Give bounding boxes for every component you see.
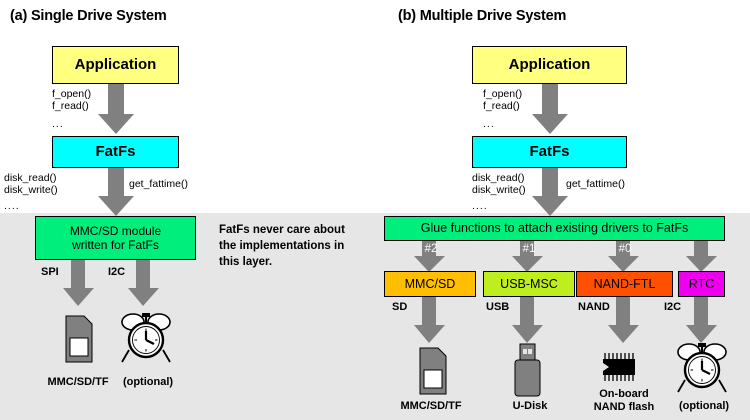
- panel-a-arrow-fatfs-to-module: [98, 168, 138, 218]
- panel-a-call-disk-read: disk_read(): [4, 172, 57, 185]
- panel-a-module-box[interactable]: MMC/SD module written for FatFs: [35, 216, 196, 260]
- panel-a-fatfs-box[interactable]: FatFs: [52, 136, 179, 168]
- sd-card-icon: [414, 348, 448, 396]
- panel-a-note: FatFs never care about the implementatio…: [219, 222, 369, 270]
- panel-a-call-f-read: f_read(): [52, 100, 89, 113]
- panel-b-title: (b) Multiple Drive System: [398, 8, 566, 24]
- alarm-clock-icon: [120, 310, 172, 366]
- panel-b-arrow-driver-to-device-1: [512, 297, 546, 345]
- panel-a-arrow-spi: [63, 260, 97, 308]
- panel-a-title: (a) Single Drive System: [10, 8, 167, 24]
- sd-card-icon: [60, 316, 94, 364]
- panel-b-arrow-fatfs-to-glue: [532, 168, 572, 218]
- panel-b-driver-box-usb-msc[interactable]: USB-MSC: [483, 271, 575, 297]
- panel-b-device-caption-2: On-board NAND flash: [574, 388, 674, 413]
- panel-b-call-get-fattime: get_fattime(): [566, 178, 625, 191]
- panel-a-call-get-fattime: get_fattime(): [129, 178, 188, 191]
- panel-b-arrow-glue-to-driver-3: [686, 241, 720, 273]
- panel-a-call-ellipsis-upper: ...: [52, 118, 64, 130]
- panel-b-call-disk-read: disk_read(): [472, 172, 525, 185]
- panel-b-driver-box-nand-ftl[interactable]: NAND-FTL: [576, 271, 673, 297]
- panel-b-drive-number-1: #1: [512, 243, 546, 255]
- panel-a-arrow-app-to-fatfs: [98, 84, 138, 136]
- panel-a-bus-label-i2c: I2C: [108, 266, 125, 278]
- panel-b-device-caption-0: MMC/SD/TF: [383, 400, 479, 413]
- panel-b-drive-number-0: #2: [414, 243, 448, 255]
- panel-b-driver-box-rtc[interactable]: RTC: [678, 271, 725, 297]
- nand-flash-chip-icon: [598, 351, 640, 383]
- panel-a-bus-label-spi: SPI: [41, 266, 59, 278]
- panel-b-application-box[interactable]: Application: [472, 46, 627, 84]
- panel-b-drive-number-2: #0: [608, 243, 642, 255]
- panel-a-arrow-i2c: [128, 260, 162, 308]
- panel-b-device-caption-3: (optional): [666, 400, 742, 413]
- panel-b-driver-box-mmc-sd[interactable]: MMC/SD: [384, 271, 476, 297]
- panel-b-bus-label-i2c: I2C: [664, 301, 681, 313]
- panel-b-bus-label-nand: NAND: [578, 301, 610, 313]
- panel-b-arrow-driver-to-device-3: [686, 297, 720, 345]
- panel-b-arrow-app-to-fatfs: [532, 84, 572, 136]
- panel-b-arrow-driver-to-device-0: [414, 297, 448, 345]
- panel-b-fatfs-box[interactable]: FatFs: [472, 136, 627, 168]
- panel-a-application-box[interactable]: Application: [52, 46, 179, 84]
- alarm-clock-icon: [676, 340, 728, 396]
- panel-b-bus-label-usb: USB: [486, 301, 509, 313]
- panel-a-call-disk-write: disk_write(): [4, 184, 58, 197]
- panel-a-device-caption-right: (optional): [110, 376, 186, 389]
- usb-stick-icon: [510, 344, 544, 396]
- panel-b-call-f-open: f_open(): [483, 88, 522, 101]
- panel-b-glue-box[interactable]: Glue functions to attach existing driver…: [384, 216, 725, 241]
- diagram-canvas: (a) Single Drive System Application f_op…: [0, 0, 750, 420]
- panel-b-arrow-driver-to-device-2: [608, 297, 642, 345]
- panel-a-call-ellipsis-lower: ....: [4, 200, 20, 212]
- panel-b-call-ellipsis-upper: ...: [483, 118, 495, 130]
- panel-b-device-caption-1: U-Disk: [482, 400, 578, 413]
- panel-b-bus-label-sd: SD: [392, 301, 407, 313]
- panel-b-call-f-read: f_read(): [483, 100, 520, 113]
- panel-b-call-disk-write: disk_write(): [472, 184, 526, 197]
- panel-a-call-f-open: f_open(): [52, 88, 91, 101]
- panel-b-call-ellipsis-lower: ....: [472, 200, 488, 212]
